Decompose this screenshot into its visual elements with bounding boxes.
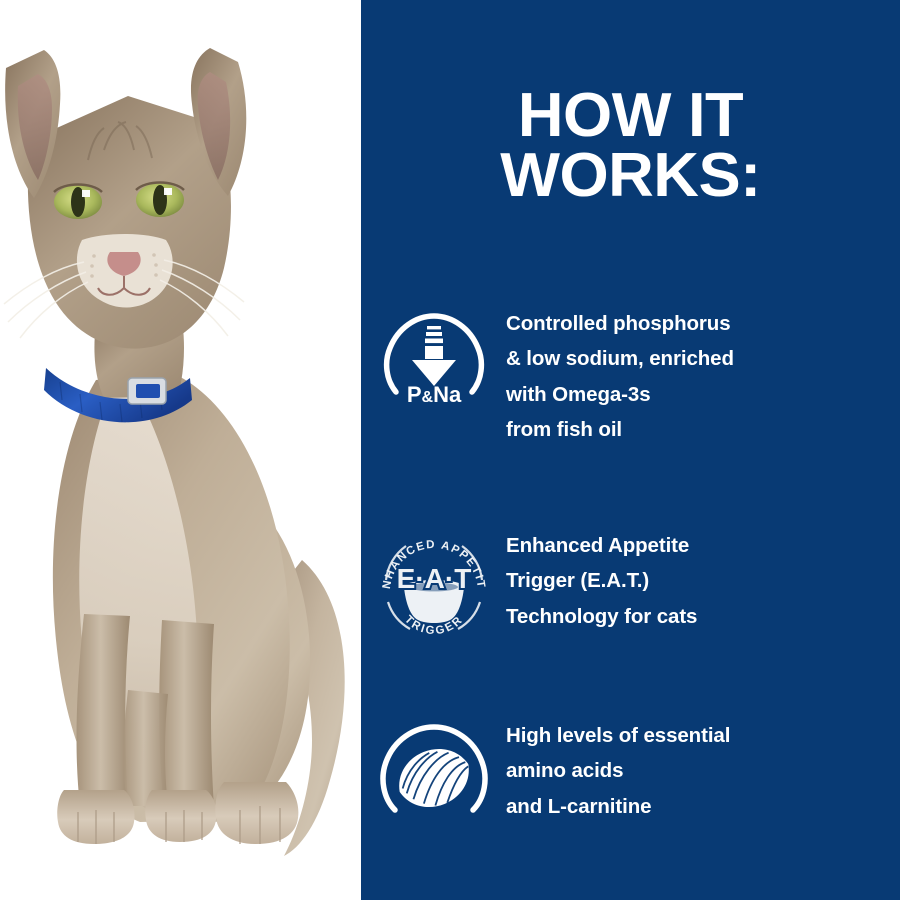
phosphorus-sodium-icon: P&Na [382, 308, 486, 412]
page-title: HOW IT WORKS: [356, 86, 900, 205]
feature-row-amino-acids: High levels of essential amino acids and… [361, 718, 900, 830]
feature-text-phosphorus: Controlled phosphorus & low sodium, enri… [506, 306, 734, 447]
feature-text-eat: Enhanced Appetite Trigger (E.A.T.) Techn… [506, 528, 697, 634]
feature-icon-wrap [361, 718, 506, 830]
eat-badge-label: E·A·T [396, 563, 471, 594]
muscle-fiber-icon [379, 720, 489, 830]
feature-row-eat: ENHANCED APPETITE TRIGGER E·A·T Enhanced… [361, 528, 900, 646]
cat-photo [0, 0, 362, 900]
feature-icon-wrap: ENHANCED APPETITE TRIGGER E·A·T [361, 528, 506, 646]
phosphorus-sodium-icon-label: P&Na [406, 382, 461, 407]
eat-technology-badge-icon: ENHANCED APPETITE TRIGGER E·A·T [376, 530, 492, 646]
feature-icon-wrap: P&Na [361, 306, 506, 412]
cat-photo-pane [0, 0, 362, 900]
how-it-works-infographic: HOW IT WORKS: P&Na Controlled phosphorus… [0, 0, 900, 900]
feature-text-amino-acids: High levels of essential amino acids and… [506, 718, 730, 824]
info-panel: HOW IT WORKS: P&Na Controlled phosphorus… [361, 0, 900, 900]
feature-row-phosphorus: P&Na Controlled phosphorus & low sodium,… [361, 306, 900, 447]
